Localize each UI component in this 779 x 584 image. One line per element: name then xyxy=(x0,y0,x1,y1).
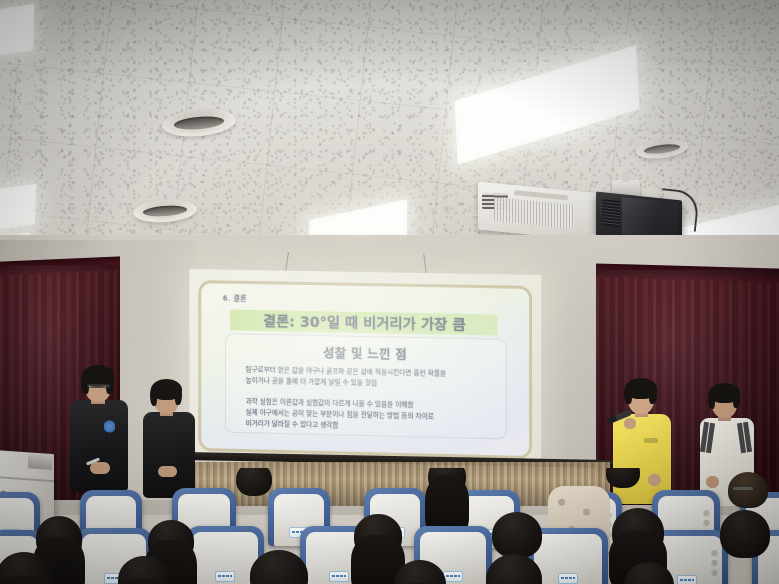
audience-head-1 xyxy=(236,468,272,496)
seat-emboss-detail xyxy=(710,550,719,576)
audience-head-6 xyxy=(354,514,402,558)
audience-head-2 xyxy=(428,468,466,494)
auditorium-presentation-photo: 6. 결론 결론: 30°일 때 비거리가 가장 큼 성찰 및 느낀 점 탐구로… xyxy=(0,0,779,584)
slide-border-frame: 6. 결론 결론: 30°일 때 비거리가 가장 큼 성찰 및 느낀 점 탐구로… xyxy=(198,280,532,459)
auditorium-seating xyxy=(0,468,779,584)
seat-number-tag xyxy=(558,573,578,584)
slide-section-number: 6. 결론 xyxy=(223,293,247,303)
slide-paragraph-2: 과학 실험은 이론값과 실험값이 다르게 나올 수 있음을 이해함 실제 야구에… xyxy=(246,396,490,435)
presenter-3-mic-hand xyxy=(624,418,636,429)
audience-head-4 xyxy=(36,516,82,560)
audience-glasses-icon xyxy=(732,486,754,491)
ceiling-light-panel-left-upper xyxy=(0,4,34,59)
presentation-slide: 6. 결론 결론: 30°일 때 비거리가 가장 큼 성찰 및 느낀 점 탐구로… xyxy=(201,283,529,456)
seat-number-tag xyxy=(215,571,235,582)
slide-paragraph-1: 탐구로부터 얻은 값을 야구나 골프와 같은 삶에 적용시킨다면 홈런 확률을 … xyxy=(246,365,490,393)
audience-head-7 xyxy=(492,512,542,558)
slide-body-card: 성찰 및 느낀 점 탐구로부터 얻은 값을 야구나 골프와 같은 삶에 적용시킨… xyxy=(225,333,507,439)
presenter-1-glasses-icon xyxy=(87,384,110,388)
audience-head-5 xyxy=(148,520,194,562)
projector-vent xyxy=(602,199,620,227)
audience-head-9 xyxy=(720,510,770,558)
projection-screen[interactable]: 6. 결론 결론: 30°일 때 비거리가 가장 큼 성찰 및 느낀 점 탐구로… xyxy=(189,269,541,468)
audience-head-3 xyxy=(606,468,640,488)
seat-number-tag xyxy=(677,575,697,584)
slide-subtitle: 성찰 및 느낀 점 xyxy=(226,341,506,365)
audience-head-8 xyxy=(612,508,664,556)
seat-number-tag xyxy=(443,571,463,582)
presenter-1-shirt-graphic xyxy=(104,420,115,433)
seat-number-tag xyxy=(329,571,349,582)
presenter-3-shirt-graphic xyxy=(644,438,658,443)
